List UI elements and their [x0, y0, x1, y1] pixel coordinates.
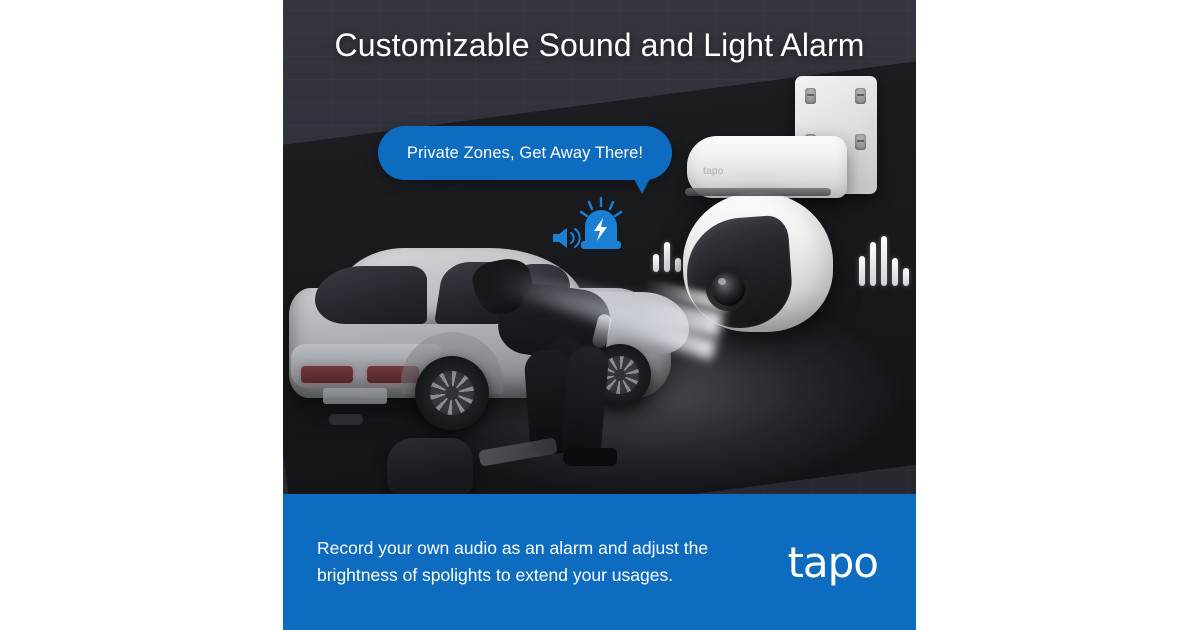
- speech-bubble-text: Private Zones, Get Away There!: [407, 144, 643, 163]
- footer-description: Record your own audio as an alarm and ad…: [317, 535, 717, 588]
- car-rear-rim: [430, 371, 474, 415]
- mount-screw-4: [855, 134, 866, 150]
- speech-bubble-tail: [633, 177, 651, 194]
- camera-pan-seam: [685, 188, 831, 196]
- car-license-plate: [323, 388, 387, 404]
- ground-bag: [387, 438, 473, 494]
- tapo-security-camera: tapo: [683, 76, 913, 366]
- speaker-sound-icon: [549, 224, 583, 252]
- camera-lens: [711, 272, 745, 306]
- mount-screw-2: [855, 88, 866, 104]
- promo-banner-stage: tapo: [0, 0, 1200, 630]
- figure-leg-right: [560, 344, 609, 457]
- car-taillight-left: [301, 366, 353, 383]
- night-surveillance-scene: tapo: [283, 0, 916, 494]
- alarm-icon-group: [553, 196, 637, 258]
- car-exhaust: [329, 414, 363, 425]
- figure-shoe: [563, 448, 617, 466]
- promo-card: tapo: [283, 0, 916, 630]
- page-title: Customizable Sound and Light Alarm: [283, 27, 916, 64]
- footer-banner: Record your own audio as an alarm and ad…: [283, 494, 916, 630]
- private-zones-speech-bubble[interactable]: Private Zones, Get Away There!: [378, 126, 672, 180]
- mount-screw-1: [805, 88, 816, 104]
- tapo-logo: tapo: [787, 538, 878, 587]
- camera-brand-label: tapo: [703, 166, 724, 177]
- car-rear-window: [315, 266, 427, 324]
